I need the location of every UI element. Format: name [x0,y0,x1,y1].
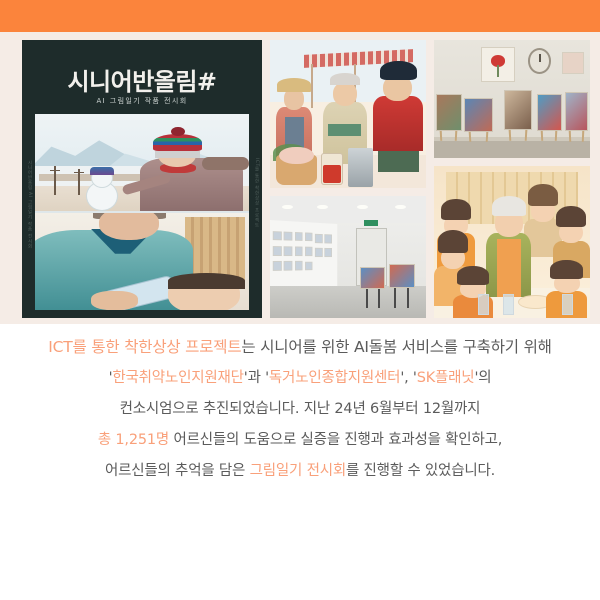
wall-artwork [315,234,323,243]
wall-artwork [284,261,293,271]
bare-tree-shape [78,169,80,194]
metal-pot-shape [348,148,373,186]
gallery-floor [434,141,590,158]
plain-phrase: 는 시니어를 위한 AI돌봄 서비스를 구축하기 위해 [241,338,551,356]
hand-shape [91,291,138,310]
hallway-ceiling [270,196,426,223]
plain-phrase: 컨소시엄으로 추진되었습니다. 지난 24년 6월부터 12월까지 [120,401,481,417]
description-line: 어르신들의 추억을 담은 그림일기 전시회를 진행할 수 있었습니다. [0,456,600,487]
description-line: 컨소시엄으로 추진되었습니다. 지난 24년 6월부터 12월까지 [0,394,600,425]
wall-artwork [273,246,282,256]
elderly-man-feeding-baby-illustration [35,213,249,310]
highlighted-phrase: ICT를 통한 착한상상 프로젝트 [48,338,241,356]
poster-artwork-area [35,114,249,310]
description-line: '한국취약노인지원재단'과 '독거노인종합지원센터', 'SK플래닛'의 [0,363,600,394]
page-root: 시니어반올림# AI 그림일기 작품 전시회 시니어반올림 AI 그림일기 작품… [0,0,600,600]
wall-artwork [295,232,303,242]
poster-side-text-left: 시니어반올림 AI 그림일기 작품 전시회 [26,160,32,248]
family-gathering-illustration[interactable] [434,166,590,318]
helper-arm-shape [202,157,249,171]
exhibition-easel-photo[interactable] [434,40,590,158]
plain-phrase: '과 ' [244,370,269,386]
wall-artwork [305,232,313,242]
wall-clock-icon [528,48,551,74]
bare-tree-shape [54,166,56,195]
description-line: ICT를 통한 착한상상 프로젝트는 시니어를 위한 AI돌봄 서비스를 구축하… [0,332,600,363]
snowman-with-elderly-woman-illustration [35,114,249,211]
highlighted-phrase: SK플래닛 [417,370,475,386]
image-collage: 시니어반올림# AI 그림일기 작품 전시회 시니어반올림 AI 그림일기 작품… [0,32,600,324]
highlighted-phrase: 한국취약노인지원재단 [112,370,243,386]
drinking-glass-shape [503,294,514,315]
wall-artwork [305,262,313,271]
left-wall-gallery-panel [270,220,337,296]
wall-artwork [324,249,331,258]
wall-poster-frame [562,52,584,74]
easel-with-artwork [464,97,494,142]
plain-phrase: 를 진행할 수 있었습니다. [346,463,495,479]
wall-artwork [324,235,331,244]
drinking-glass-shape [478,294,489,315]
wall-artwork [284,232,293,242]
highlighted-phrase: 총 1,251명 [98,432,169,448]
snowman-shape [82,169,122,211]
kimchi-jar-shape [321,153,343,186]
plain-phrase: 어르신들의 추억을 담은 [105,463,250,479]
easel-with-artwork [504,90,532,142]
wall-artwork [273,261,282,271]
easel-with-artwork [389,264,416,308]
wall-artwork [295,261,303,270]
easel-with-artwork [436,94,463,141]
poster-side-text-right: ICT를 통한 착한상상 프로젝트 [253,158,259,228]
plain-phrase: 어르신들의 도움으로 실증을 진행과 효과성을 확인하고, [169,432,502,448]
wall-artwork [273,231,282,241]
highlighted-phrase: 독거노인종합지원센터 [269,370,400,386]
flower-painting-frame [481,47,515,82]
drinking-glass-shape [562,294,573,315]
easel-with-artwork [537,94,562,141]
easel-with-artwork [360,267,385,308]
description-text-block: ICT를 통한 착한상상 프로젝트는 시니어를 위한 AI돌봄 서비스를 구축하… [0,332,600,487]
kimchi-making-illustration[interactable] [270,40,426,188]
poster-title: 시니어반올림# [22,62,262,97]
plain-phrase: '의 [474,370,491,386]
top-accent-band [0,0,600,32]
wall-artwork [315,248,323,257]
exhibition-poster[interactable]: 시니어반올림# AI 그림일기 작품 전시회 시니어반올림 AI 그림일기 작품… [22,40,262,318]
exhibition-hallway-photo[interactable] [270,196,426,318]
baby-hair-shape [168,273,245,289]
poster-subtitle: AI 그림일기 작품 전시회 [22,96,262,106]
description-line: 총 1,251명 어르신들의 도움으로 실증을 진행과 효과성을 확인하고, [0,425,600,456]
wall-artwork [305,247,313,256]
easel-with-artwork [565,92,588,142]
plain-phrase: ', ' [400,370,416,386]
highlighted-phrase: 그림일기 전시회 [250,463,346,479]
wall-artwork [284,246,293,256]
food-basket-shape [276,155,317,185]
wall-artwork [295,247,303,256]
young-man-red-shirt-figure [373,61,423,171]
exit-sign-icon [364,220,378,226]
